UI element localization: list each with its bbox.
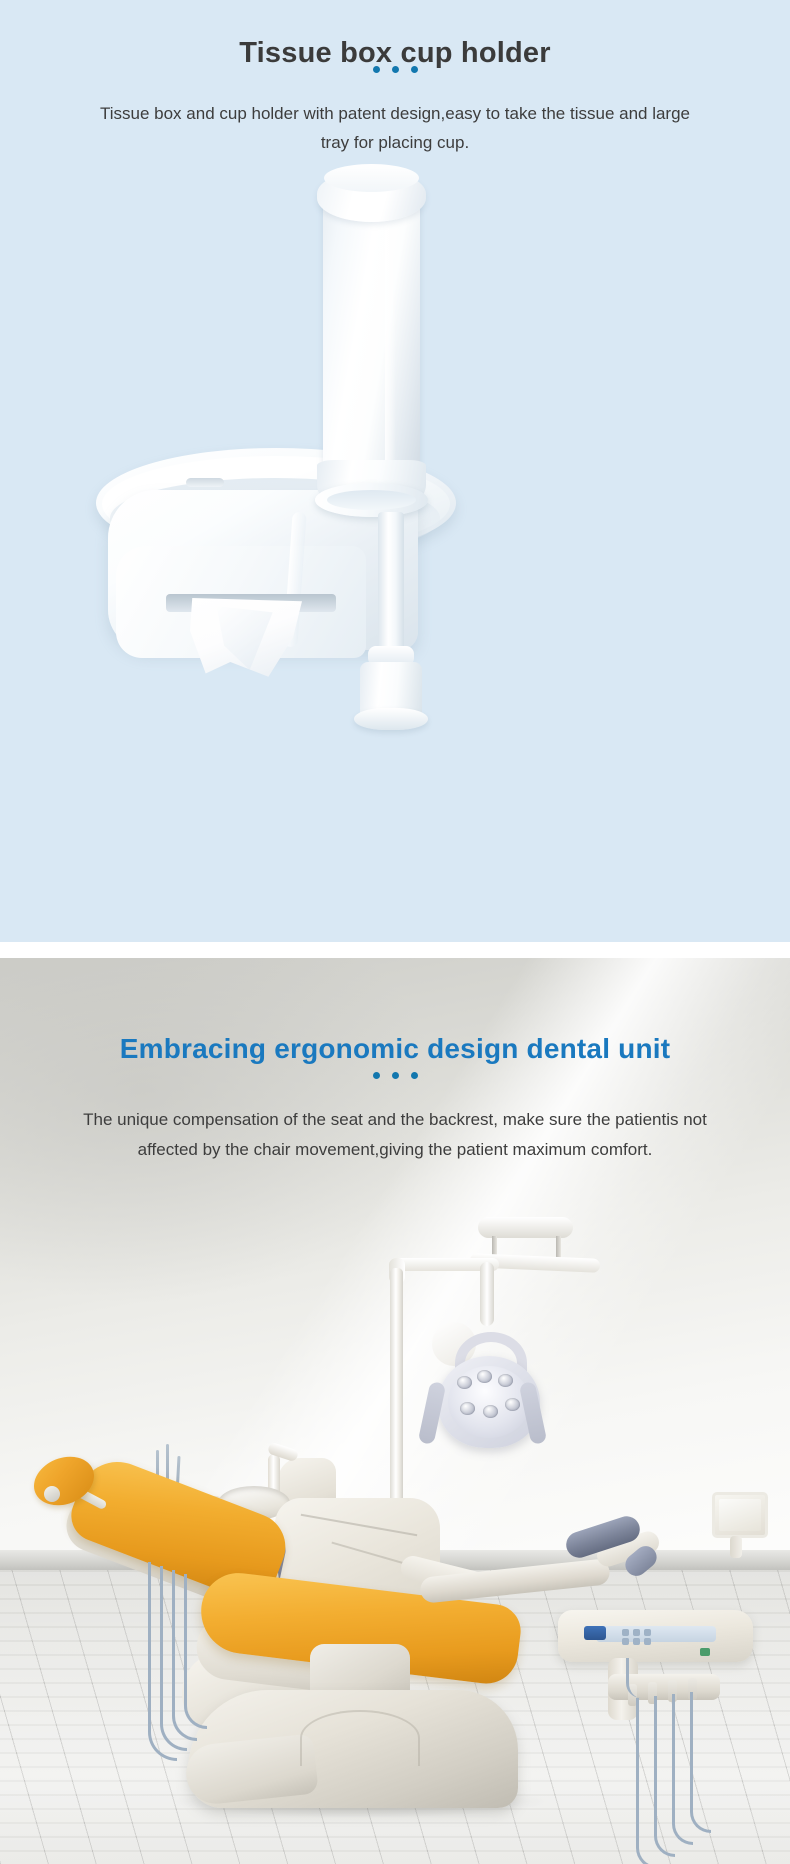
delivery-hose [626, 1658, 641, 1698]
cup-dispenser-tube [323, 195, 420, 495]
support-column [378, 512, 404, 662]
section-tissue-box-cup-holder: Tissue box cup holder Tissue box and cup… [0, 0, 790, 942]
support-base-ring [354, 708, 428, 730]
section-one-dot-separator-icon [0, 66, 790, 73]
delivery-key-icon [633, 1629, 640, 1636]
delivery-unit-screen-stem [730, 1536, 742, 1558]
tissue-box-cup-holder-image [88, 160, 468, 740]
led-bulb-icon [477, 1370, 492, 1383]
delivery-control-strip [596, 1626, 716, 1642]
dot-icon [392, 66, 399, 73]
delivery-key-icon [622, 1629, 629, 1636]
tray-notch [186, 478, 224, 487]
delivery-key-icon [644, 1629, 651, 1636]
product-detail-page: Tissue box cup holder Tissue box and cup… [0, 0, 790, 1864]
cup-dispenser-opening [327, 490, 416, 510]
assistant-hose [184, 1574, 207, 1729]
delivery-hose [690, 1692, 711, 1833]
light-arm-drop-tube [480, 1262, 494, 1326]
chair-base-contour [300, 1710, 420, 1766]
light-arm-top-bar [478, 1217, 573, 1238]
delivery-brand-badge [584, 1626, 606, 1640]
led-bulb-icon [505, 1398, 520, 1411]
delivery-indicator-light [700, 1648, 710, 1656]
section-one-description: Tissue box and cup holder with patent de… [95, 99, 695, 157]
dental-unit-image [0, 958, 790, 1864]
led-bulb-icon [457, 1376, 472, 1389]
dot-icon [411, 66, 418, 73]
led-bulb-icon [498, 1374, 513, 1387]
delivery-unit-screen-display [719, 1499, 761, 1531]
delivery-key-icon [633, 1638, 640, 1645]
delivery-key-icon [622, 1638, 629, 1645]
cup-dispenser-cap-top [324, 164, 419, 192]
section-ergonomic-dental-unit: Embracing ergonomic design dental unit T… [0, 958, 790, 1864]
headrest-adjust-knob [44, 1486, 60, 1502]
dot-icon [373, 66, 380, 73]
delivery-key-icon [644, 1638, 651, 1645]
led-bulb-icon [483, 1405, 498, 1418]
led-bulb-icon [460, 1402, 475, 1415]
